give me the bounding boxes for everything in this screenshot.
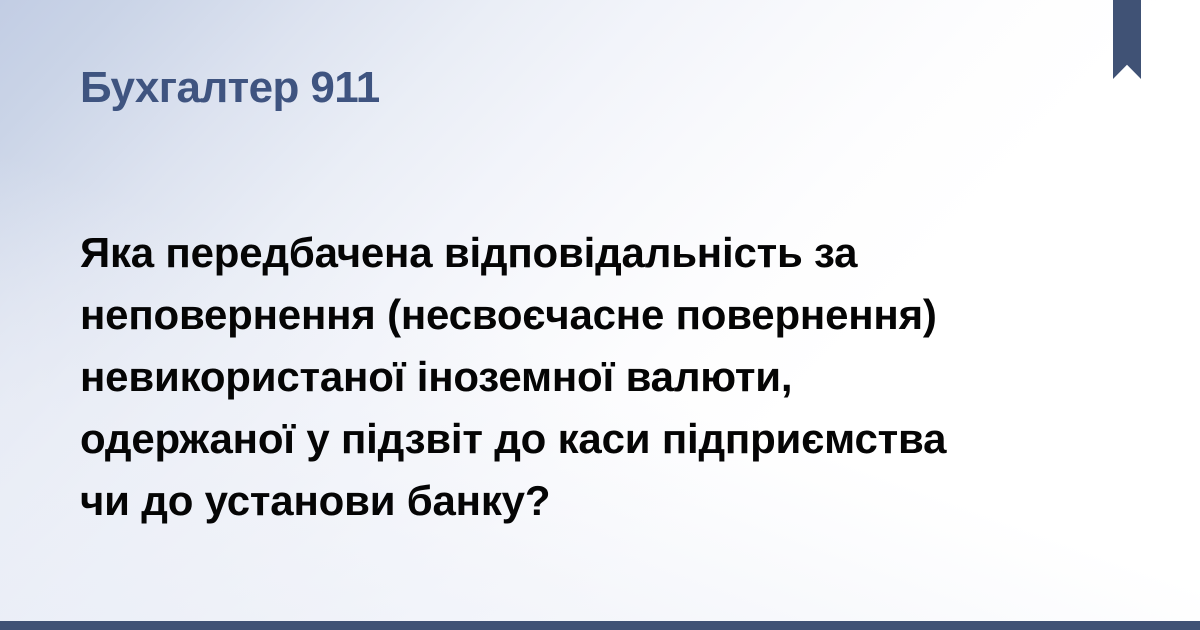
headline-line: Яка передбачена відповідальність за bbox=[80, 222, 1065, 284]
headline-line: чи до установи банку? bbox=[80, 470, 1065, 532]
headline-line: невикористаної іноземної валюти, bbox=[80, 346, 1065, 408]
share-card: Бухгалтер 911 Яка передбачена відповідал… bbox=[0, 0, 1200, 630]
headline-line: одержаної у підзвіт до каси підприємства bbox=[80, 408, 1065, 470]
card-content: Бухгалтер 911 Яка передбачена відповідал… bbox=[0, 0, 1200, 630]
page-title: Яка передбачена відповідальність за непо… bbox=[80, 222, 1065, 532]
headline-line: неповернення (несвоєчасне повернення) bbox=[80, 284, 1065, 346]
bookmark-ribbon-icon bbox=[1113, 0, 1141, 79]
site-logo[interactable]: Бухгалтер 911 bbox=[80, 66, 380, 110]
footer-accent-bar bbox=[0, 621, 1200, 630]
